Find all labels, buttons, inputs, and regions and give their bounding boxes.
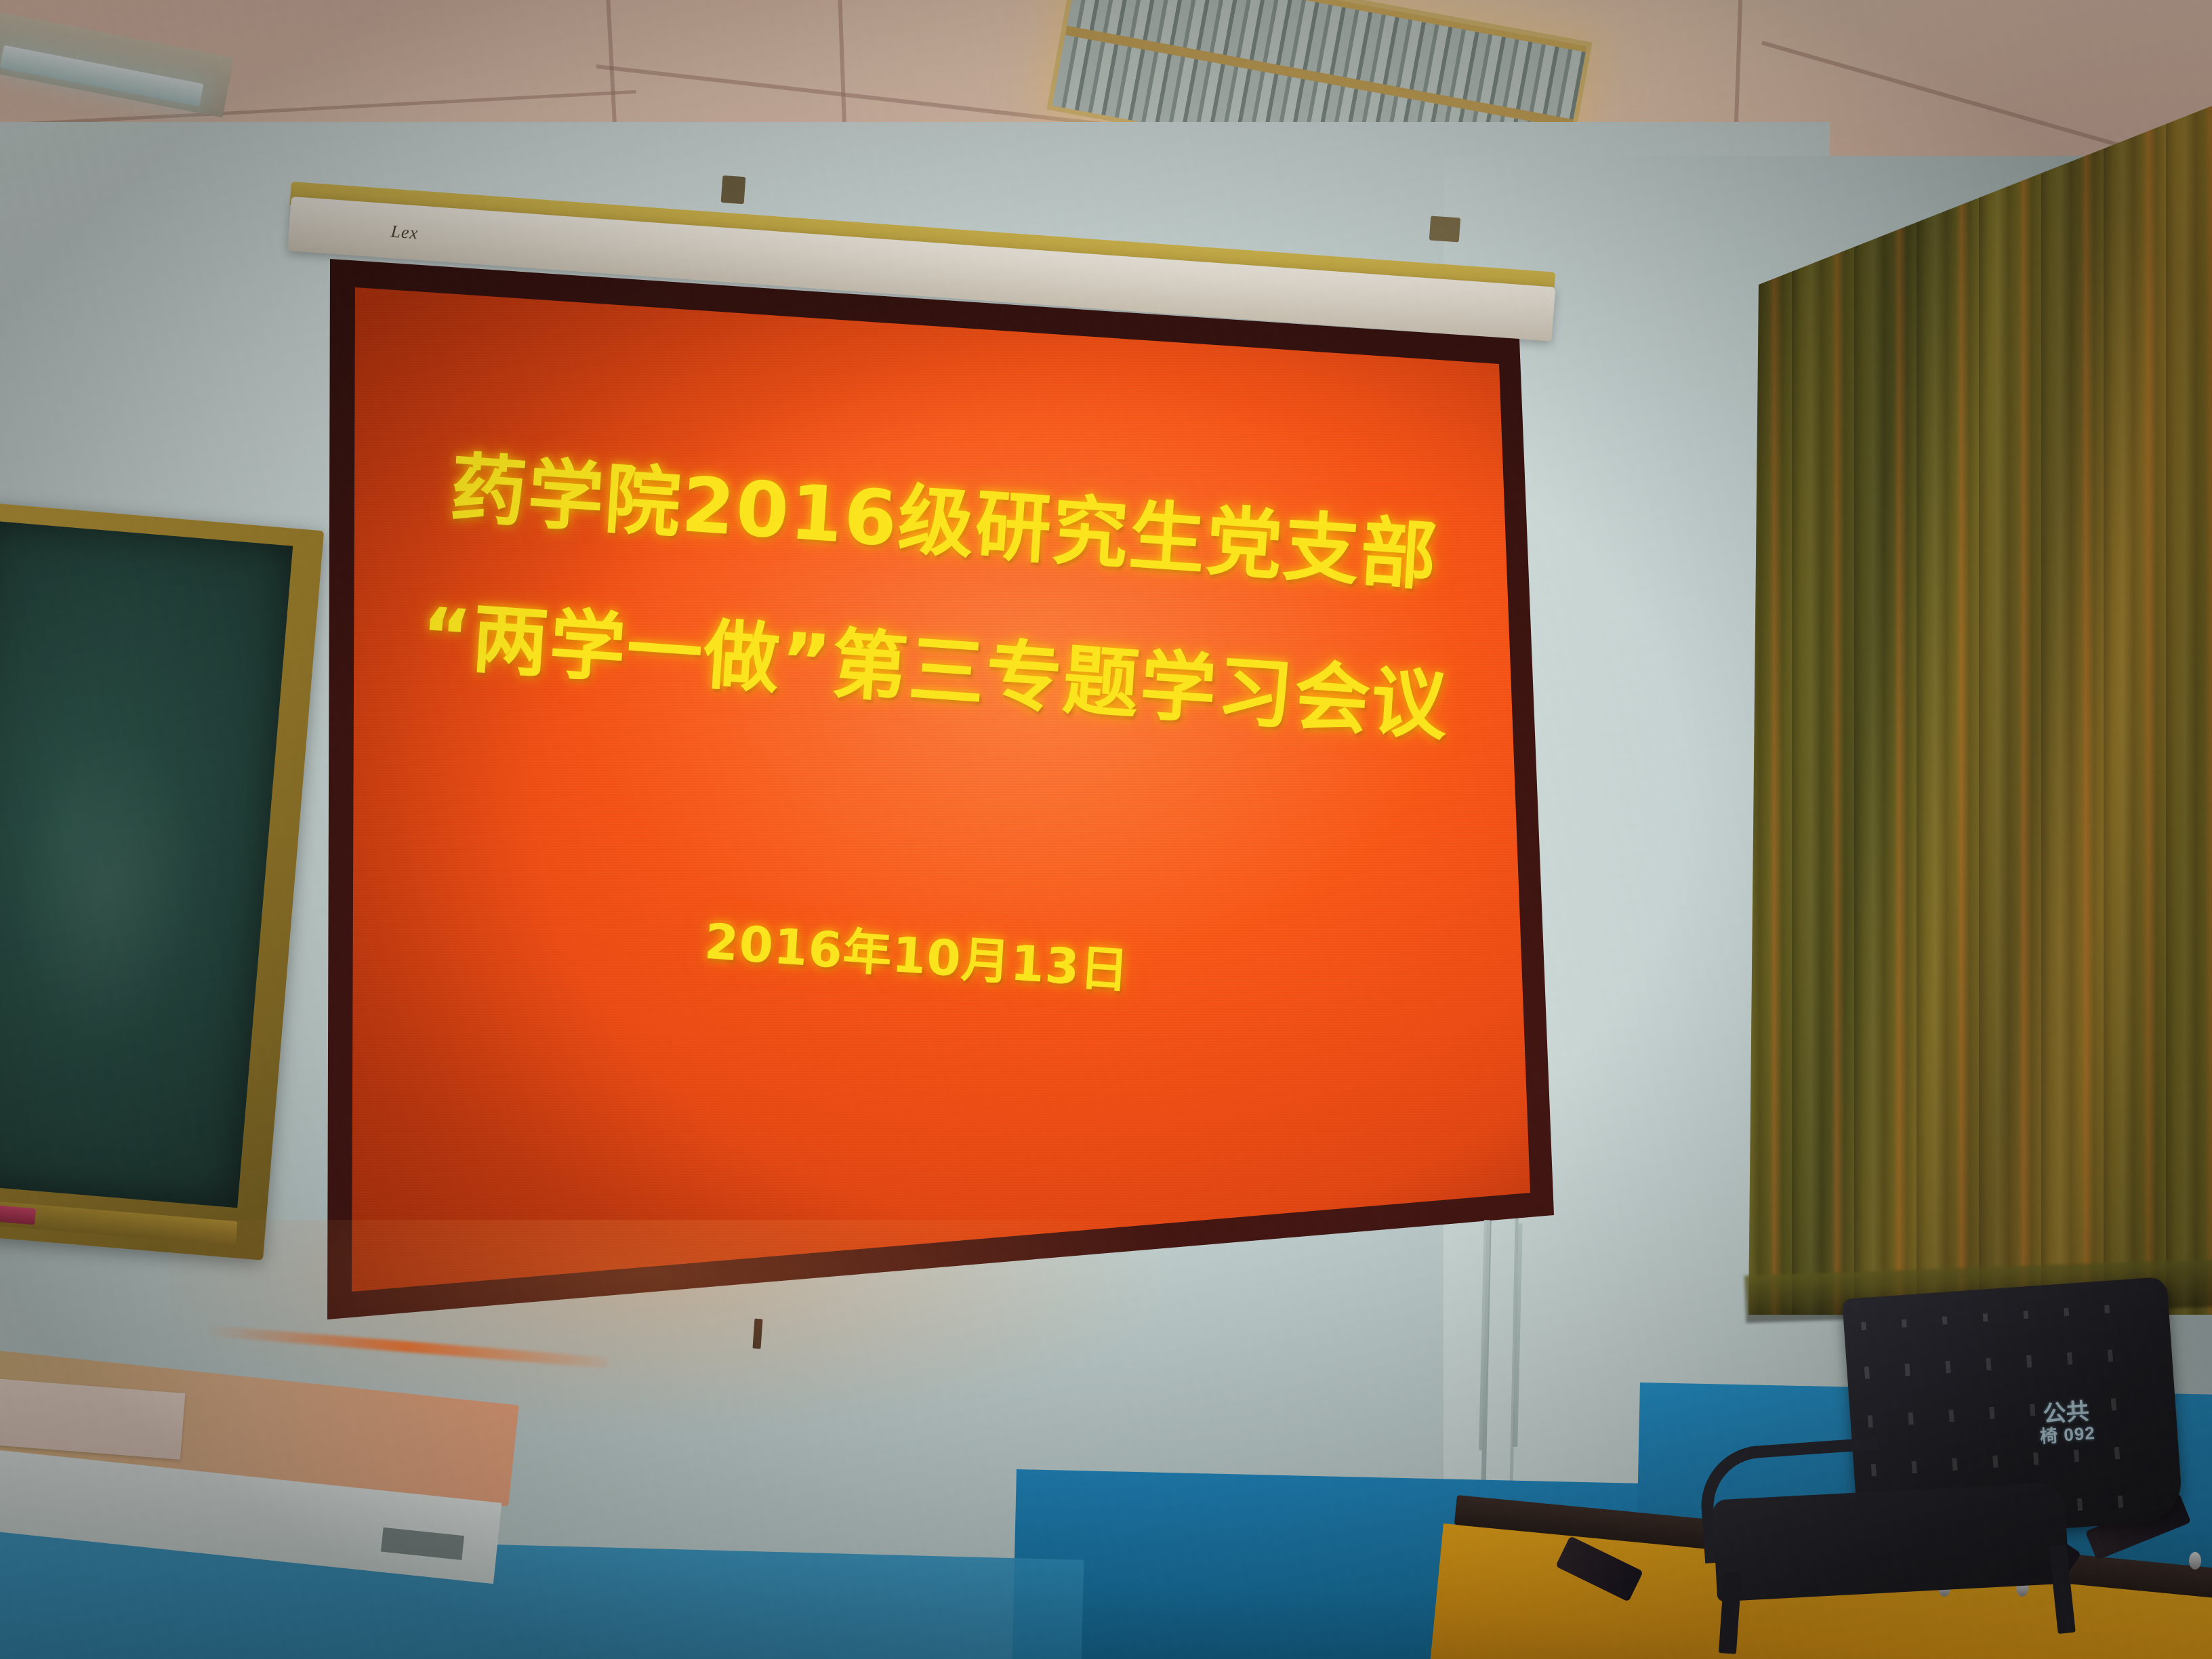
chair-seat [1712,1481,2069,1601]
chair-leg [2049,1544,2075,1634]
screen-mount-bracket [1429,216,1460,242]
screen-mount-bracket [721,176,746,204]
paper-sheet [0,1378,185,1460]
chalk-smudge [2,724,214,1057]
screen-brand-label: Lex [390,222,419,244]
classroom-scene: Lex 药学院2016级研究生党支部 “两学一做”第三专题学习会议 2016年1… [0,0,2212,1659]
classroom-chair: 公共 椅 092 [1674,1274,2212,1659]
chair-asset-tag: 公共 椅 092 [2018,1398,2116,1454]
